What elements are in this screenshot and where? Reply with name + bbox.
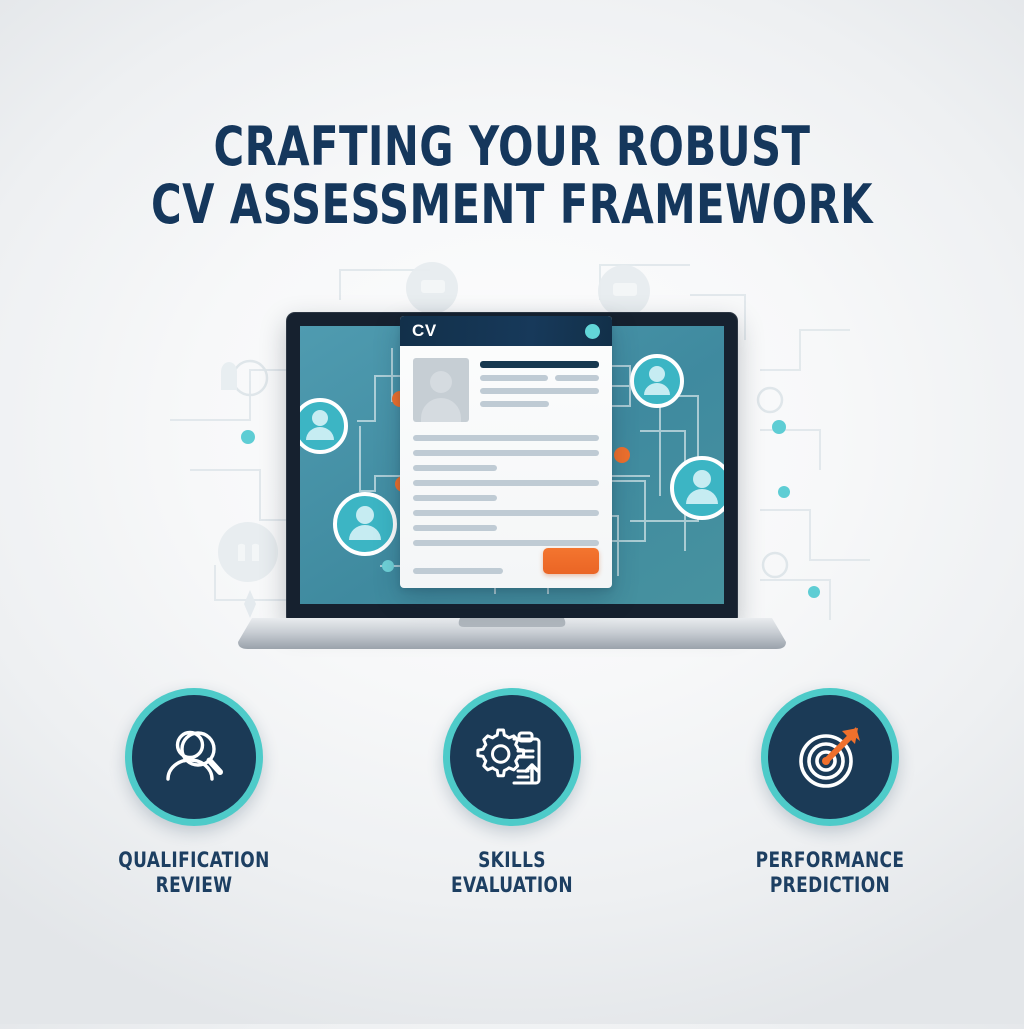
feature-qualification-review[interactable]: QUALIFICATION REVIEW bbox=[94, 688, 294, 898]
feature-icon-circle bbox=[761, 688, 899, 826]
feature-icon-circle bbox=[443, 688, 581, 826]
cv-line bbox=[413, 465, 497, 471]
cv-header-fields bbox=[480, 358, 599, 422]
cv-line bbox=[413, 450, 599, 456]
cv-card-footer bbox=[413, 548, 599, 574]
feature-label: PERFORMANCE PREDICTION bbox=[740, 848, 920, 898]
cv-field-bar bbox=[555, 375, 599, 381]
feature-icon-circle bbox=[125, 688, 263, 826]
feature-label-line2: REVIEW bbox=[104, 873, 284, 898]
user-node-right-lower bbox=[672, 458, 724, 518]
cv-card-title: CV bbox=[412, 321, 437, 341]
cv-line bbox=[413, 495, 497, 501]
cv-line bbox=[413, 525, 497, 531]
feature-label-line1: QUALIFICATION bbox=[104, 848, 284, 873]
gear-clipboard-arrow-icon bbox=[472, 717, 552, 797]
cv-field-bar bbox=[480, 375, 548, 381]
cv-line bbox=[413, 540, 599, 546]
person-avatar-icon bbox=[413, 358, 469, 422]
cv-card-body bbox=[400, 346, 612, 422]
target-dart-icon bbox=[790, 717, 870, 797]
feature-skills-evaluation[interactable]: SKILLS EVALUATION bbox=[412, 688, 612, 898]
cv-card-header: CV bbox=[400, 316, 612, 346]
laptop-base bbox=[238, 616, 786, 650]
cv-line bbox=[413, 435, 599, 441]
cv-submit-button[interactable] bbox=[543, 548, 599, 574]
cv-line bbox=[413, 480, 599, 486]
feature-list: QUALIFICATION REVIEW SKILLS EVALUATION bbox=[0, 688, 1024, 898]
cv-line bbox=[413, 568, 503, 574]
status-dot-icon bbox=[585, 324, 600, 339]
person-magnifier-icon bbox=[154, 717, 234, 797]
page-title: CRAFTING YOUR ROBUST CV ASSESSMENT FRAME… bbox=[0, 118, 1024, 234]
cv-field-bar bbox=[480, 401, 549, 407]
title-line-1: CRAFTING YOUR ROBUST bbox=[72, 118, 953, 176]
user-node-right-upper bbox=[632, 356, 682, 406]
cv-content-lines bbox=[400, 422, 612, 546]
cv-line bbox=[413, 510, 599, 516]
cv-name-bar bbox=[480, 361, 599, 368]
feature-label-line2: PREDICTION bbox=[740, 873, 920, 898]
title-line-2: CV ASSESSMENT FRAMEWORK bbox=[72, 176, 953, 234]
feature-performance-prediction[interactable]: PERFORMANCE PREDICTION bbox=[730, 688, 930, 898]
user-node-left-upper bbox=[300, 400, 346, 452]
cv-field-bar bbox=[480, 388, 599, 394]
user-node-left-lower bbox=[335, 494, 395, 554]
feature-label-line1: PERFORMANCE bbox=[740, 848, 920, 873]
feature-label: SKILLS EVALUATION bbox=[422, 848, 602, 898]
cv-document-card[interactable]: CV bbox=[400, 316, 612, 588]
feature-label: QUALIFICATION REVIEW bbox=[104, 848, 284, 898]
feature-label-line1: SKILLS EVALUATION bbox=[422, 848, 602, 898]
